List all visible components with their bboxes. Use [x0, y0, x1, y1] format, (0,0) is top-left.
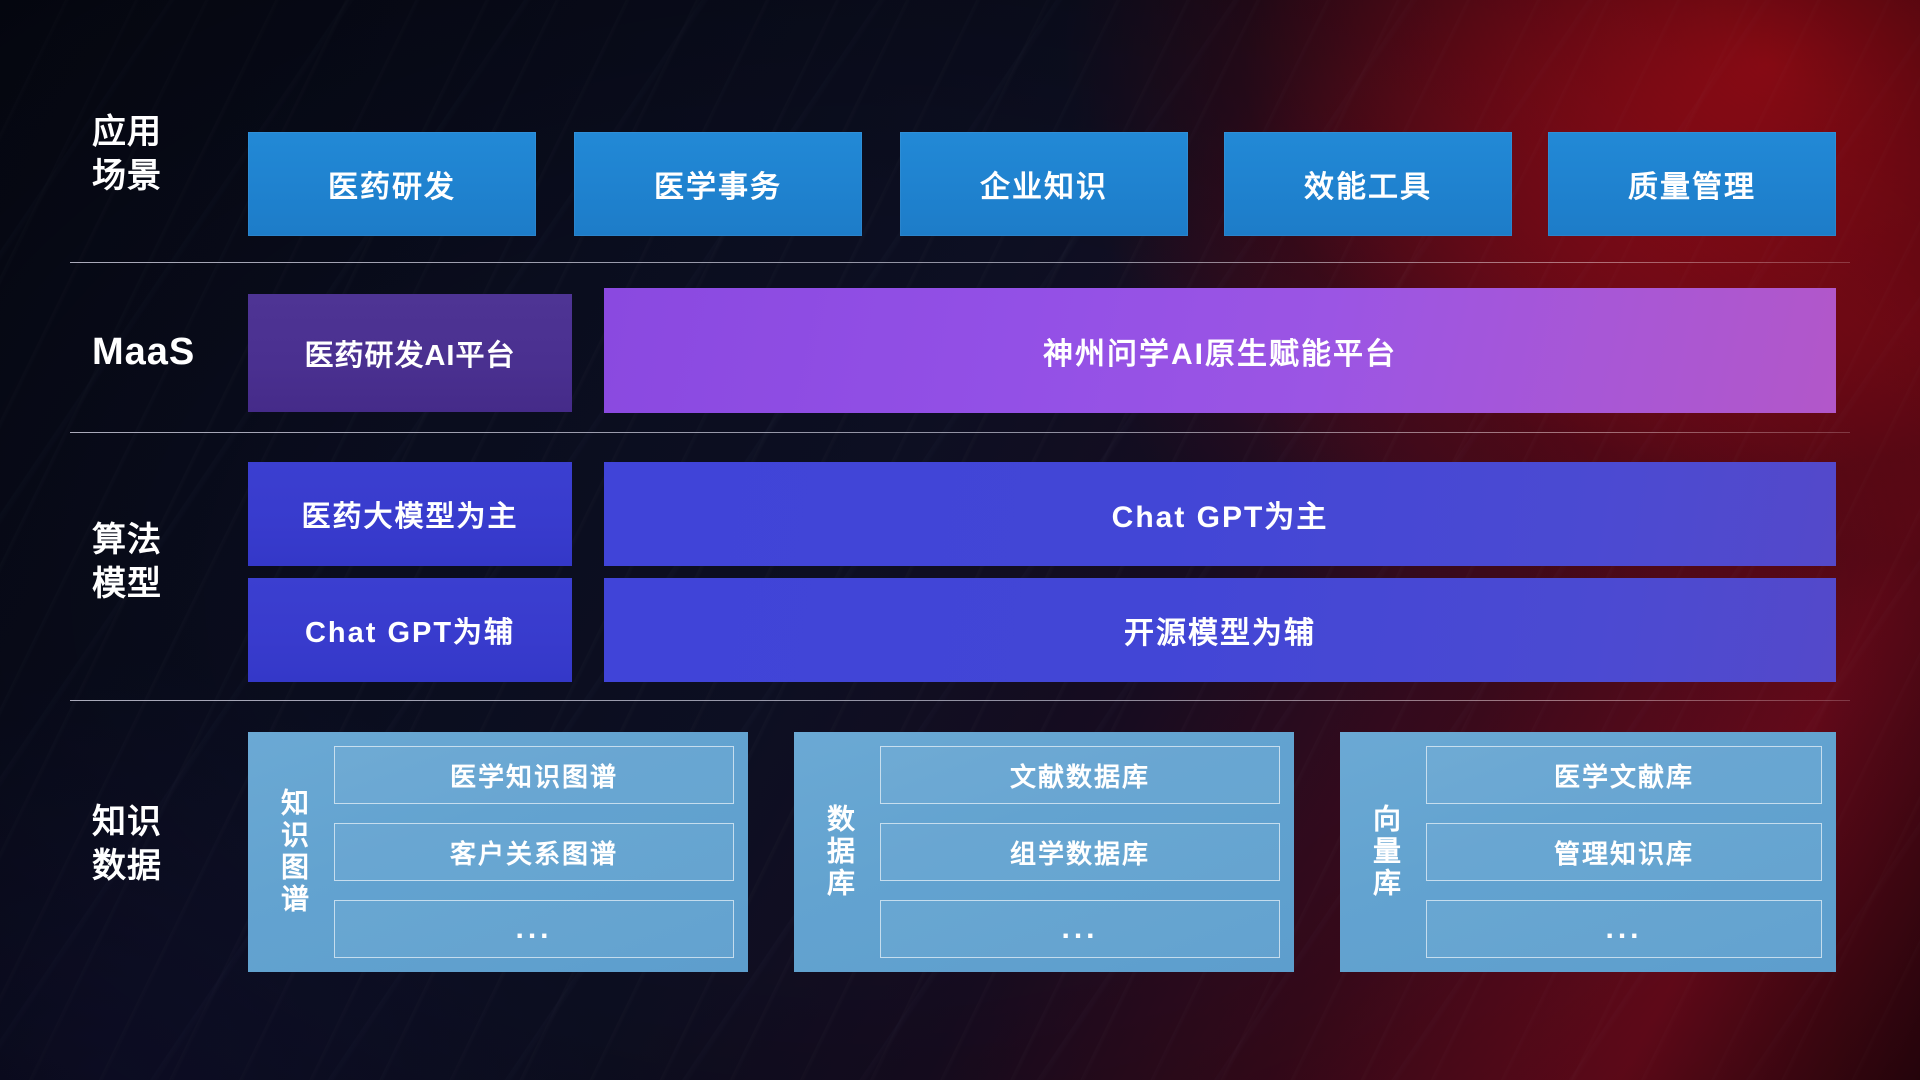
algorithm-label-primary-chatgpt: Chat GPT为主 [1112, 492, 1329, 536]
app-scenario-label-5: 质量管理 [1628, 162, 1756, 206]
knowledge-item-more[interactable]: ... [880, 900, 1280, 958]
diagram-content: 应用 场景 医药研发 医学事务 企业知识 效能工具 质量管理 MaaS 医药研发… [0, 0, 1920, 1080]
algorithm-label-primary-medical: 医药大模型为主 [301, 493, 518, 535]
divider-application-maas [70, 262, 1850, 263]
algorithm-label-secondary-opensource: 开源模型为辅 [1124, 608, 1316, 652]
knowledge-item[interactable]: 医学文献库 [1426, 746, 1822, 804]
knowledge-item-more[interactable]: ... [334, 900, 734, 958]
algorithm-box-secondary-chatgpt[interactable]: Chat GPT为辅 [248, 578, 572, 682]
algorithm-box-primary-medical[interactable]: 医药大模型为主 [248, 462, 572, 566]
knowledge-item[interactable]: 客户关系图谱 [334, 823, 734, 881]
maas-platform-label-left: 医药研发AI平台 [304, 332, 515, 374]
app-scenario-box-2[interactable]: 医学事务 [574, 132, 862, 236]
knowledge-group-items-vector: 医学文献库 管理知识库 ... [1416, 746, 1822, 958]
knowledge-group-items-graph: 医学知识图谱 客户关系图谱 ... [324, 746, 734, 958]
app-scenario-box-3[interactable]: 企业知识 [900, 132, 1188, 236]
slide-canvas: 应用 场景 医药研发 医学事务 企业知识 效能工具 质量管理 MaaS 医药研发… [0, 0, 1920, 1080]
knowledge-item[interactable]: 医学知识图谱 [334, 746, 734, 804]
app-scenario-box-4[interactable]: 效能工具 [1224, 132, 1512, 236]
algorithm-box-primary-chatgpt[interactable]: Chat GPT为主 [604, 462, 1836, 566]
row-label-maas: MaaS [92, 330, 242, 374]
algorithm-box-secondary-opensource[interactable]: 开源模型为辅 [604, 578, 1836, 682]
app-scenario-label-3: 企业知识 [980, 162, 1108, 206]
knowledge-group-title-graph: 知识图谱 [262, 746, 324, 958]
knowledge-group-graph: 知识图谱 医学知识图谱 客户关系图谱 ... [248, 732, 748, 972]
app-scenario-label-4: 效能工具 [1304, 162, 1432, 206]
algorithm-label-secondary-chatgpt: Chat GPT为辅 [305, 609, 515, 651]
knowledge-group-title-vector: 向量库 [1354, 746, 1416, 958]
app-scenario-label-1: 医药研发 [328, 162, 456, 206]
divider-maas-algorithm [70, 432, 1850, 433]
knowledge-group-vector: 向量库 医学文献库 管理知识库 ... [1340, 732, 1836, 972]
knowledge-group-items-database: 文献数据库 组学数据库 ... [870, 746, 1280, 958]
knowledge-item[interactable]: 组学数据库 [880, 823, 1280, 881]
knowledge-group-database: 数据库 文献数据库 组学数据库 ... [794, 732, 1294, 972]
knowledge-group-title-database: 数据库 [808, 746, 870, 958]
app-scenario-box-5[interactable]: 质量管理 [1548, 132, 1836, 236]
maas-platform-box-right[interactable]: 神州问学AI原生赋能平台 [604, 288, 1836, 413]
knowledge-item-more[interactable]: ... [1426, 900, 1822, 958]
row-label-knowledge: 知识 数据 [92, 800, 242, 888]
app-scenario-box-1[interactable]: 医药研发 [248, 132, 536, 236]
row-label-algorithm: 算法 模型 [92, 518, 242, 606]
knowledge-item[interactable]: 管理知识库 [1426, 823, 1822, 881]
maas-platform-box-left[interactable]: 医药研发AI平台 [248, 294, 572, 412]
knowledge-item[interactable]: 文献数据库 [880, 746, 1280, 804]
row-label-application: 应用 场景 [92, 110, 242, 198]
maas-platform-label-right: 神州问学AI原生赋能平台 [1043, 329, 1397, 373]
app-scenario-label-2: 医学事务 [654, 162, 782, 206]
divider-algorithm-knowledge [70, 700, 1850, 701]
